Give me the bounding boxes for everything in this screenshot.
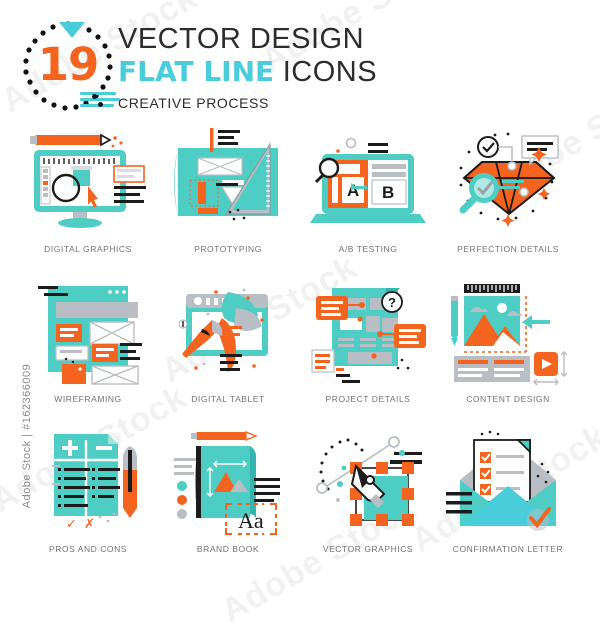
icon-cell-prototyping[interactable]: PROTOTYPING [158, 122, 298, 272]
title-accent: FLAT LINE [118, 55, 274, 88]
poster-header: 19 VECTOR DESIGN FLAT LINE ICONS CREATIV… [0, 0, 600, 120]
poster-canvas: Adobe Stock Adobe Stock Adobe Stock Adob… [0, 0, 600, 600]
digital-graphics-illustration [18, 122, 158, 244]
wireframing-illustration [18, 272, 158, 394]
ab-testing-illustration: A B [298, 122, 438, 244]
icon-cell-content-design[interactable]: CONTENT DESIGN [438, 272, 578, 422]
icon-label: PROTOTYPING [158, 244, 298, 254]
brand-book-illustration: Aa [158, 422, 298, 544]
icon-cell-ab-testing[interactable]: A B A/B TESTING [298, 122, 438, 272]
digital-tablet-illustration [158, 272, 298, 394]
icon-label: WIREFRAMING [18, 394, 158, 404]
project-details-illustration: ? [298, 272, 438, 394]
logo-dot-icon [92, 94, 97, 99]
icon-cell-confirmation-letter[interactable]: CONFIRMATION LETTER [438, 422, 578, 572]
icon-label: DIGITAL GRAPHICS [18, 244, 158, 254]
icon-label: PROS AND CONS [18, 544, 158, 554]
title-line-1: VECTOR DESIGN [118, 24, 377, 55]
perfection-details-illustration [438, 122, 578, 244]
type-sample: Aa [238, 508, 264, 533]
icon-cell-vector-graphics[interactable]: VECTOR GRAPHICS [298, 422, 438, 572]
icon-cell-brand-book[interactable]: Aa BRAND BOOK [158, 422, 298, 572]
title-block: VECTOR DESIGN FLAT LINE ICONS CREATIVE P… [118, 24, 377, 111]
icon-grid: DIGITAL GRAPHICS [0, 122, 600, 582]
icon-cell-project-details[interactable]: ? PROJECT DETAILS [298, 272, 438, 422]
icon-label: VECTOR GRAPHICS [298, 544, 438, 554]
vector-graphics-illustration [298, 422, 438, 544]
title-line-2: FLAT LINE ICONS [118, 55, 377, 93]
confirmation-letter-illustration [438, 422, 578, 544]
icon-label: CONTENT DESIGN [438, 394, 578, 404]
icon-cell-perfection-details[interactable]: PERFECTION DETAILS [438, 122, 578, 272]
content-design-illustration [438, 272, 578, 394]
icon-label: CONFIRMATION LETTER [438, 544, 578, 554]
pros-and-cons-illustration: ✓ ✗ [18, 422, 158, 544]
prototyping-illustration [158, 122, 298, 244]
cross-mark: ✗ [84, 516, 95, 531]
title-rest-text: ICONS [283, 56, 377, 88]
title-rest [274, 56, 283, 88]
check-mark: ✓ [66, 516, 77, 531]
icon-label: A/B TESTING [298, 244, 438, 254]
icon-cell-digital-graphics[interactable]: DIGITAL GRAPHICS [18, 122, 158, 272]
icon-cell-pros-and-cons[interactable]: ✓ ✗ PROS AND CONS [18, 422, 158, 572]
subtitle: CREATIVE PROCESS [118, 95, 377, 111]
icon-label: PERFECTION DETAILS [438, 244, 578, 254]
icon-cell-wireframing[interactable]: WIREFRAMING [18, 272, 158, 422]
question-badge: ? [388, 295, 396, 310]
badge-logo: 19 [18, 14, 118, 114]
icon-label: DIGITAL TABLET [158, 394, 298, 404]
icon-label: BRAND BOOK [158, 544, 298, 554]
letter-b: B [382, 183, 394, 202]
icon-label: PROJECT DETAILS [298, 394, 438, 404]
logo-dot-icon [98, 102, 103, 107]
letter-a: A [347, 181, 359, 200]
icon-cell-digital-tablet[interactable]: DIGITAL TABLET [158, 272, 298, 422]
